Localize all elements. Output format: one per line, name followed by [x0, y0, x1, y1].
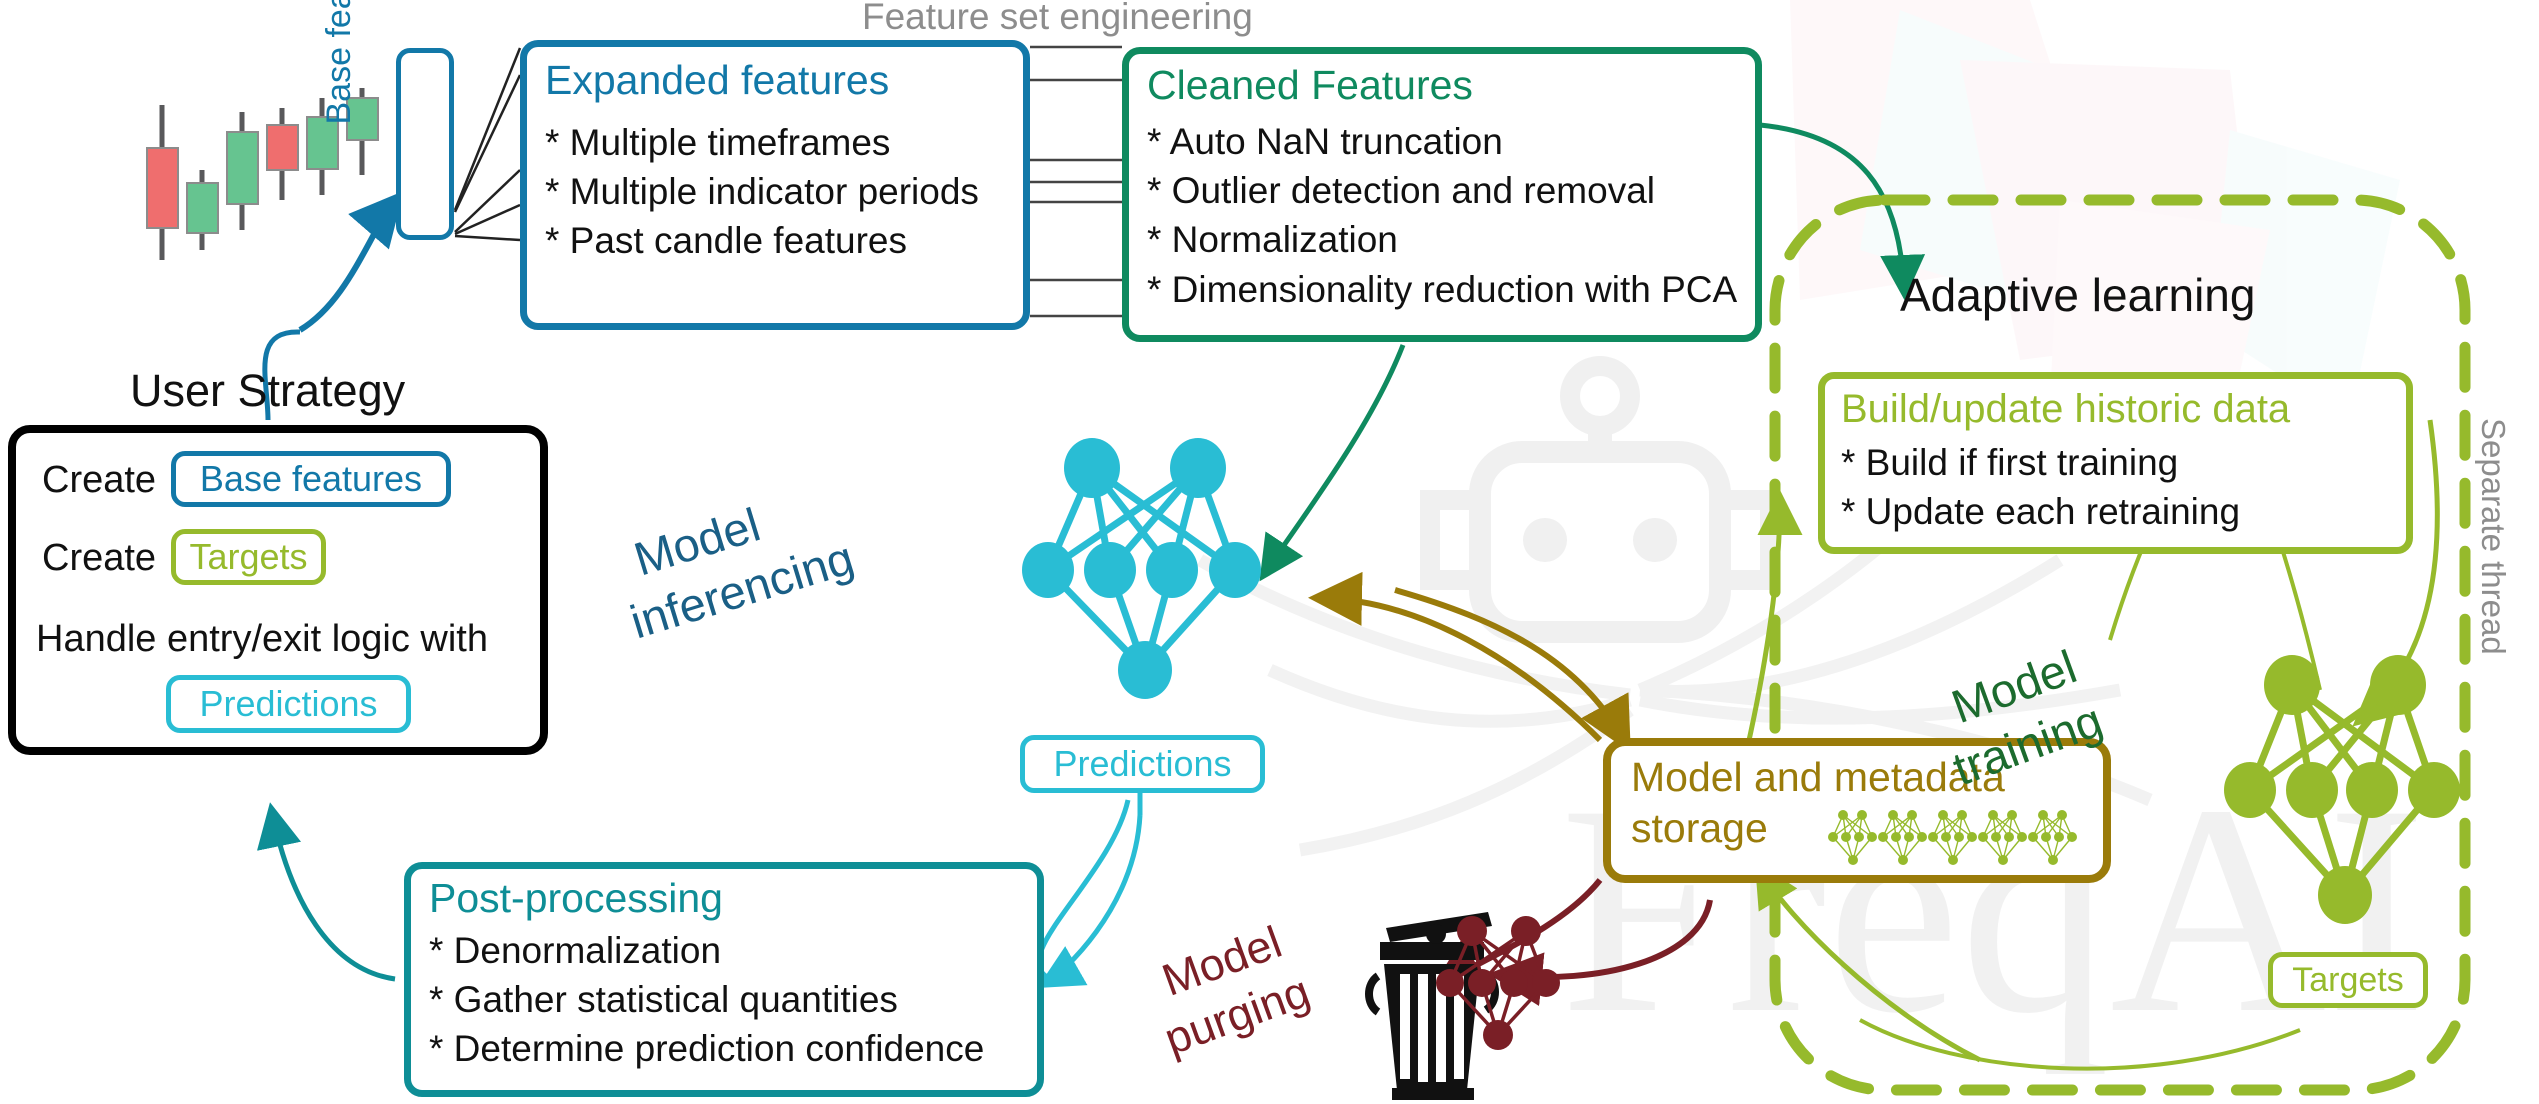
- separate-thread-label: Separate thread: [2474, 418, 2512, 655]
- adaptive-learning-label: Adaptive learning: [1900, 268, 2255, 322]
- cleaned-features-title: Cleaned Features: [1147, 64, 1755, 107]
- strategy-predictions-tag[interactable]: Predictions: [166, 675, 411, 733]
- strategy-line-2-prefix: Create: [42, 537, 156, 580]
- post-processing-bullets: * Denormalization * Gather statistical q…: [429, 926, 1037, 1074]
- line-predictions-down: [1039, 800, 1128, 980]
- targets-tag-label: Targets: [2292, 961, 2404, 1000]
- feature-set-engineering-label: Feature set engineering: [862, 0, 1253, 38]
- cleaned-features-box[interactable]: Cleaned Features * Auto NaN truncation *…: [1122, 47, 1762, 342]
- post-processing-box[interactable]: Post-processing * Denormalization * Gath…: [404, 862, 1044, 1097]
- strategy-targets-label: Targets: [189, 536, 307, 578]
- strategy-line-1-prefix: Create: [42, 459, 156, 502]
- bullet-item: * Update each retraining: [1841, 487, 2406, 536]
- base-features-tag-label: Base features: [320, 0, 359, 125]
- neural-network-icon-cyan: [1010, 420, 1310, 720]
- post-processing-title: Post-processing: [429, 877, 1037, 920]
- arrow-cleaned-to-adaptive: [1760, 125, 1904, 290]
- connectors-expanded-to-cleaned: [1030, 47, 1122, 316]
- bullet-item: * Dimensionality reduction with PCA: [1147, 265, 1755, 314]
- bullet-item: * Multiple timeframes: [545, 118, 1023, 167]
- predictions-tag-label: Predictions: [1053, 743, 1231, 785]
- bullet-item: * Denormalization: [429, 926, 1037, 975]
- expanded-features-title: Expanded features: [545, 59, 1023, 102]
- predictions-tag[interactable]: Predictions: [1020, 735, 1265, 793]
- build-update-box[interactable]: Build/update historic data * Build if fi…: [1818, 372, 2413, 554]
- model-inferencing-label: Model inferencing: [627, 472, 860, 645]
- bullet-item: * Normalization: [1147, 215, 1755, 264]
- bullet-item: * Determine prediction confidence: [429, 1024, 1037, 1073]
- bullet-item: * Build if first training: [1841, 438, 2406, 487]
- arrow-training-to-storage: [1760, 870, 1980, 1060]
- strategy-base-features-label: Base features: [200, 458, 422, 500]
- bullet-item: * Gather statistical quantities: [429, 975, 1037, 1024]
- fan-base-to-expanded: [455, 48, 520, 240]
- user-strategy-box[interactable]: Create Base features Create Targets Hand…: [8, 425, 548, 755]
- bullet-item: * Multiple indicator periods: [545, 167, 1023, 216]
- build-update-bullets: * Build if first training * Update each …: [1841, 438, 2406, 536]
- neural-network-row-icon: [1829, 808, 2099, 870]
- arrow-nn-to-storage: [1395, 590, 1625, 742]
- cleaned-features-bullets: * Auto NaN truncation * Outlier detectio…: [1147, 117, 1755, 314]
- neural-network-icon-maroon: [1430, 905, 1590, 1065]
- bullet-item: * Past candle features: [545, 216, 1023, 265]
- bullet-item: * Auto NaN truncation: [1147, 117, 1755, 166]
- targets-tag[interactable]: Targets: [2268, 952, 2428, 1008]
- user-strategy-title: User Strategy: [130, 365, 405, 417]
- line-targets-bottom-loop: [1860, 1020, 2300, 1069]
- bullet-item: * Outlier detection and removal: [1147, 166, 1755, 215]
- freqai-flow-diagram: FreqAI: [0, 0, 2539, 1104]
- model-purging-label: Model purging: [1155, 911, 1318, 1062]
- arrow-postprocessing-to-strategy: [272, 812, 395, 979]
- strategy-predictions-label: Predictions: [199, 683, 377, 725]
- arrow-storage-to-nn: [1320, 598, 1600, 740]
- expanded-features-bullets: * Multiple timeframes * Multiple indicat…: [545, 118, 1023, 266]
- strategy-base-features-tag[interactable]: Base features: [171, 451, 451, 507]
- expanded-features-box[interactable]: Expanded features * Multiple timeframes …: [520, 40, 1030, 330]
- build-update-title: Build/update historic data: [1841, 387, 2406, 432]
- strategy-line-3: Handle entry/exit logic with: [36, 618, 488, 661]
- base-features-tag[interactable]: Base features: [396, 48, 454, 240]
- neural-network-icon-green: [2220, 650, 2500, 950]
- strategy-targets-tag[interactable]: Targets: [171, 529, 326, 585]
- arrow-predictions-to-postprocessing: [1046, 815, 1140, 983]
